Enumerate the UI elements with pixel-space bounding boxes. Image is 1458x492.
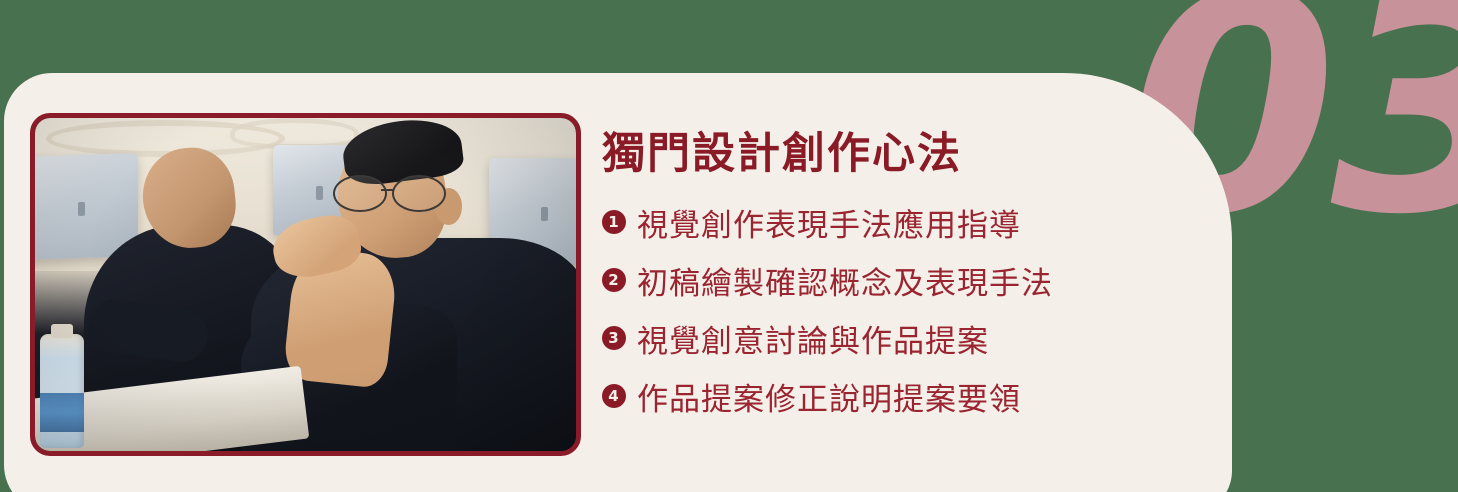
- list-marker-4: 4: [602, 384, 626, 408]
- list-marker-1: 1: [602, 210, 626, 234]
- content-card: 獨門設計創作心法 1 視覺創作表現手法應用指導 2 初稿繪製確認概念及表現手法 …: [4, 73, 1232, 492]
- section-title: 獨門設計創作心法: [602, 131, 1202, 179]
- list-item: 2 初稿繪製確認概念及表現手法: [602, 251, 1202, 309]
- list-marker-3: 3: [602, 326, 626, 350]
- text-column: 獨門設計創作心法 1 視覺創作表現手法應用指導 2 初稿繪製確認概念及表現手法 …: [602, 131, 1202, 425]
- list-item-label: 作品提案修正說明提案要領: [637, 374, 1021, 419]
- list-item-label: 視覺創作表現手法應用指導: [637, 200, 1021, 245]
- list-item: 3 視覺創意討論與作品提案: [602, 309, 1202, 367]
- photo-frame: [30, 113, 581, 456]
- list-item-label: 視覺創意討論與作品提案: [637, 316, 989, 361]
- slide-canvas: 03: [0, 0, 1458, 492]
- classroom-photo: [35, 118, 576, 451]
- photo-vignette: [35, 118, 576, 451]
- list-item: 4 作品提案修正說明提案要領: [602, 367, 1202, 425]
- list-marker-2: 2: [602, 268, 626, 292]
- list-item-label: 初稿繪製確認概念及表現手法: [637, 258, 1053, 303]
- list-item: 1 視覺創作表現手法應用指導: [602, 193, 1202, 251]
- curriculum-list: 1 視覺創作表現手法應用指導 2 初稿繪製確認概念及表現手法 3 視覺創意討論與…: [602, 193, 1202, 425]
